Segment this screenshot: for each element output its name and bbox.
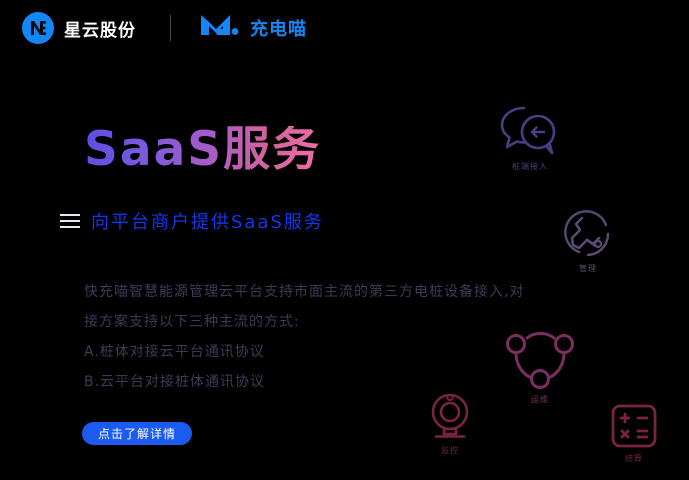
brand-left[interactable]: 星云股份	[22, 12, 136, 44]
page-root: 星云股份 充电喵 SaaS服务 向平台商户提供SaaS服务 快充喵智慧能源管理云…	[0, 0, 689, 480]
feature-label: 监控	[441, 445, 459, 456]
header-divider	[170, 15, 171, 41]
brand-right[interactable]: 充电喵	[199, 13, 307, 43]
feature-label: 结算	[625, 453, 643, 464]
feature-chat[interactable]: 桩端接入	[498, 104, 562, 172]
header-bar: 星云股份 充电喵	[0, 0, 689, 56]
feature-label: 管理	[579, 263, 597, 274]
brand-right-label: 充电喵	[250, 15, 307, 41]
subtitle-row: 向平台商户提供SaaS服务	[60, 208, 324, 234]
subtitle-label: 向平台商户提供SaaS服务	[91, 208, 324, 234]
cat-face-icon	[199, 13, 241, 43]
hamburger-menu-icon	[60, 214, 80, 228]
page-title: SaaS服务	[84, 126, 321, 173]
speech-bubble-arrow-icon	[498, 104, 562, 158]
body-line: 快充喵智慧能源管理云平台支持市面主流的第三方电桩设备接入,对	[84, 277, 584, 307]
nebula-monogram-icon	[22, 12, 54, 44]
calculator-icon	[609, 402, 659, 450]
monitor-camera-icon	[427, 392, 473, 442]
learn-more-button[interactable]: 点击了解详情	[82, 422, 192, 445]
feature-wrench[interactable]: 管理	[562, 208, 614, 274]
feature-calc[interactable]: 结算	[609, 402, 659, 464]
feature-monitor[interactable]: 监控	[427, 392, 473, 456]
share-nodes-icon	[503, 327, 577, 391]
feature-share[interactable]: 运维	[503, 327, 577, 405]
wrench-icon	[562, 208, 614, 260]
feature-label: 运维	[531, 394, 549, 405]
feature-label: 桩端接入	[512, 161, 548, 172]
brand-left-label: 星云股份	[64, 16, 136, 41]
